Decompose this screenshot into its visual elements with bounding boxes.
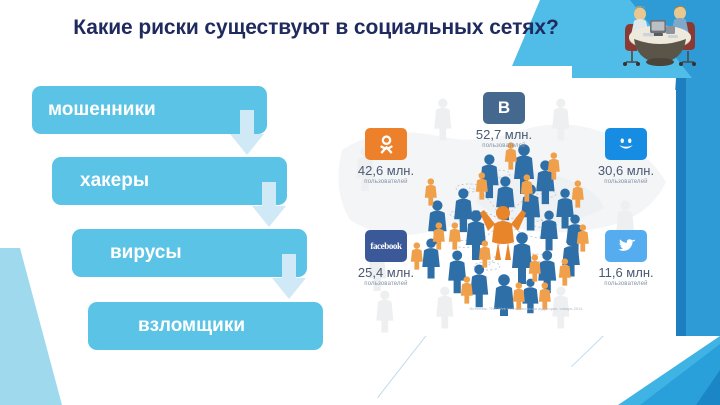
stat-value: 25,4 млн. (340, 266, 432, 280)
arrow-down-icon (272, 254, 306, 300)
stat-twitter: 11,6 млн. пользователей (580, 230, 672, 287)
flow-step-label: вирусы (110, 242, 182, 264)
stat-users-label: пользователей (580, 281, 672, 287)
infographic-source-note: Источник: TNS Web Index, месячная аудито… (436, 306, 616, 311)
twitter-bird-icon (605, 230, 647, 262)
stat-value: 42,6 млн. (340, 164, 432, 178)
stat-value: 52,7 млн. (458, 128, 550, 142)
stat-users-label: пользователей (340, 179, 432, 185)
stat-users-label: пользователей (580, 179, 672, 185)
stat-value: 11,6 млн. (580, 266, 672, 280)
moi-mir-smiley-icon (605, 128, 647, 160)
arrow-down-icon (252, 182, 286, 228)
slide-canvas: Какие риски существуют в социальных сетя… (0, 0, 720, 405)
decorative-hairline-left (377, 330, 431, 398)
people-network-diagram (410, 126, 596, 316)
flow-step-label: взломщики (138, 315, 245, 337)
social-network-infographic: В 52,7 млн. пользователей 42,6 млн. поль… (332, 90, 676, 336)
stat-users-label: пользователей (340, 281, 432, 287)
arrow-down-icon (230, 110, 264, 156)
stat-facebook: facebook 25,4 млн. пользователей (340, 230, 432, 287)
stat-moi-mir: 30,6 млн. пользователей (580, 128, 672, 185)
slide-title: Какие риски существуют в социальных сетя… (58, 14, 574, 42)
flow-step-label: мошенники (48, 99, 156, 121)
flow-step-vzlomshchiki[interactable]: взломщики (88, 302, 323, 350)
flow-step-label: хакеры (80, 170, 149, 192)
odnoklassniki-icon (365, 128, 407, 160)
facebook-icon: facebook (365, 230, 407, 262)
stat-odnoklassniki: 42,6 млн. пользователей (340, 128, 432, 185)
stat-users-label: пользователей (458, 143, 550, 149)
stat-value: 30,6 млн. (580, 164, 672, 178)
people-at-table-clipart (612, 2, 708, 76)
stat-vkontakte: В 52,7 млн. пользователей (458, 92, 550, 149)
risks-flow-diagram: мошенники хакеры вирусы взломщики (0, 82, 320, 372)
vk-icon: В (483, 92, 525, 124)
